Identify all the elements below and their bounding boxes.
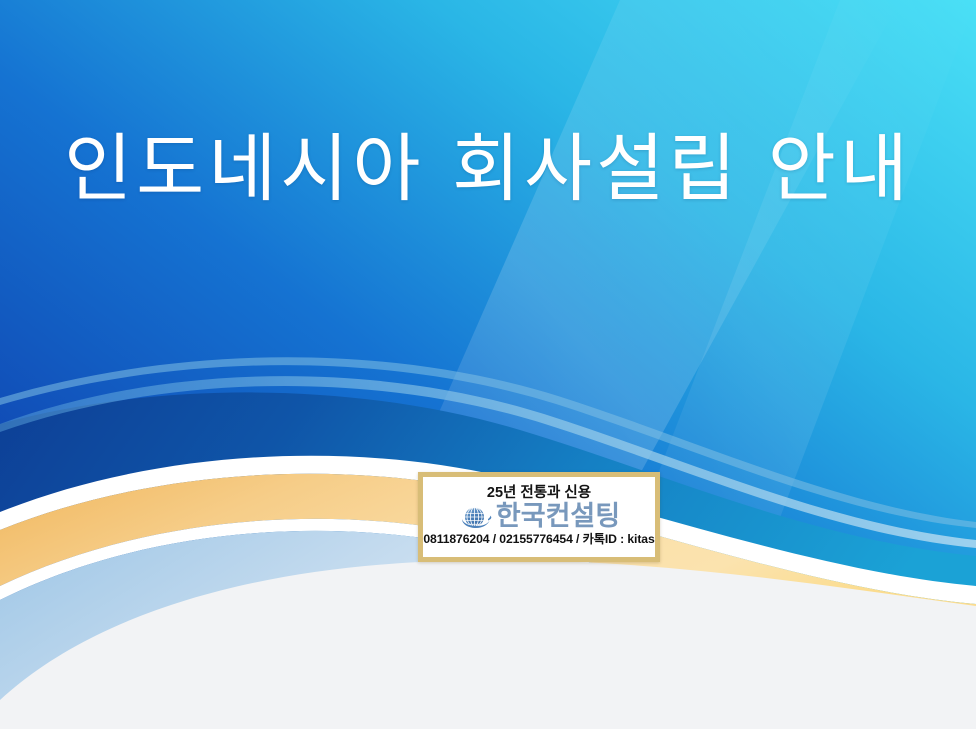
logo-tagline: 25년 전통과 신용: [487, 486, 591, 502]
logo-contact-info: 0811876204 / 02155776454 / 카톡ID : kitas: [423, 533, 654, 546]
slide-background: [0, 0, 976, 729]
globe-icon: [458, 504, 492, 530]
company-logo-plaque: 25년 전통과 신용: [418, 472, 660, 562]
presentation-slide: 인도네시아 회사설립 안내 25년 전통과 신용: [0, 0, 976, 729]
logo-company-name: 한국컨설팅: [496, 503, 620, 531]
logo-name-row: 한국컨설팅: [458, 503, 620, 531]
